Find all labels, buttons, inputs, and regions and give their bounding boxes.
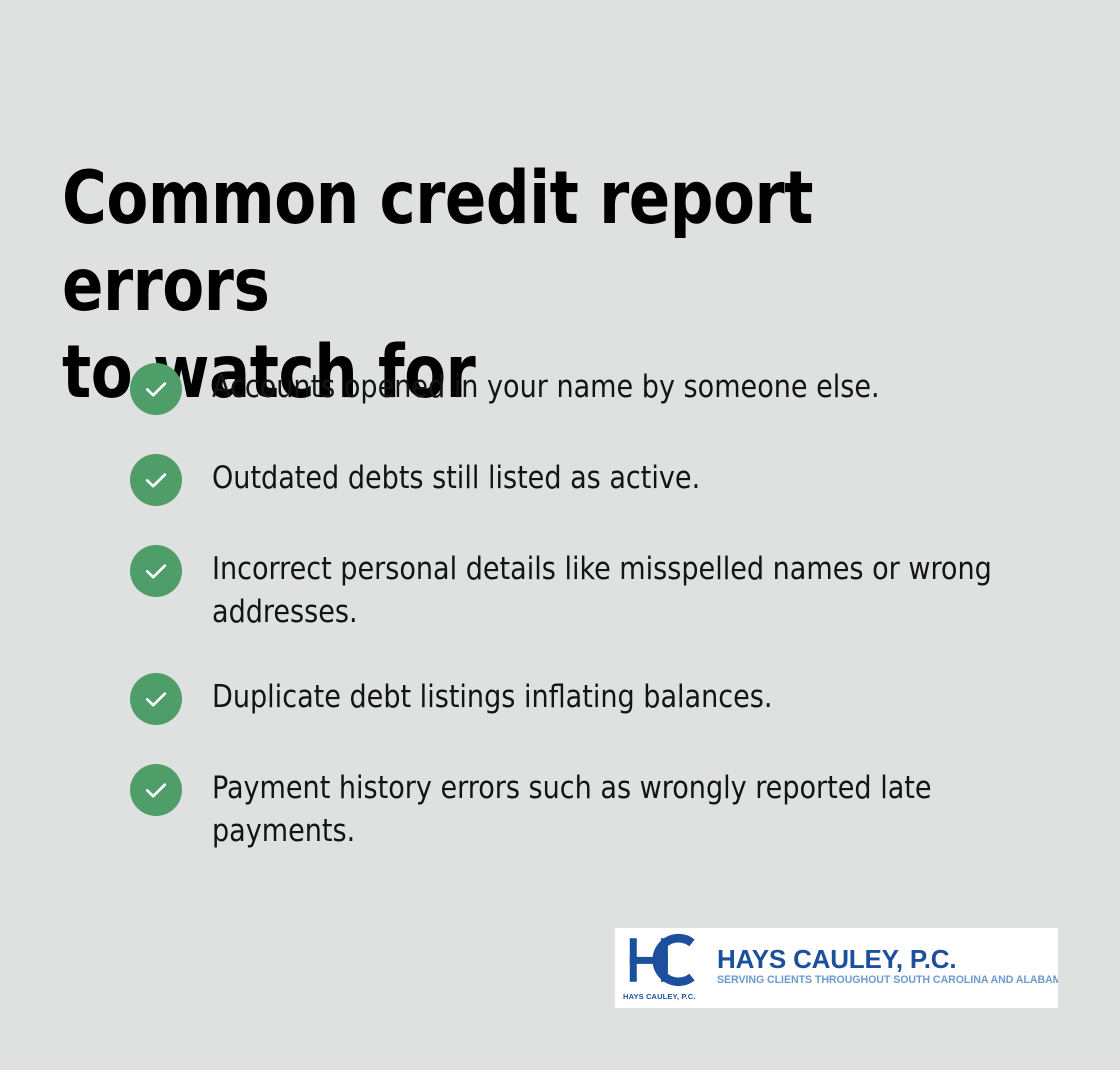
- list-item-label: Payment history errors such as wrongly r…: [212, 763, 1025, 853]
- monogram-caption: HAYS CAULEY, P.C.: [623, 992, 696, 1001]
- list-item-label: Accounts opened in your name by someone …: [212, 362, 1025, 409]
- list-item-label: Duplicate debt listings inflating balanc…: [212, 672, 1025, 719]
- check-circle-icon: [130, 454, 182, 506]
- list-item: Duplicate debt listings inflating balanc…: [130, 672, 1050, 725]
- list-item: Payment history errors such as wrongly r…: [130, 763, 1050, 853]
- check-circle-icon: [130, 673, 182, 725]
- list-item-label: Outdated debts still listed as active.: [212, 453, 1025, 500]
- check-circle-icon: [130, 363, 182, 415]
- checklist: Accounts opened in your name by someone …: [130, 362, 1050, 853]
- check-circle-icon: [130, 764, 182, 816]
- list-item: Accounts opened in your name by someone …: [130, 362, 1050, 415]
- logo-text-block: HAYS CAULEY, P.C. SERVING CLIENTS THROUG…: [715, 946, 1058, 991]
- hays-cauley-monogram-icon: HAYS CAULEY, P.C.: [623, 928, 715, 1008]
- list-item-label: Incorrect personal details like misspell…: [212, 544, 1025, 634]
- logo-card: HAYS CAULEY, P.C. HAYS CAULEY, P.C. SERV…: [615, 928, 1058, 1008]
- list-item: Outdated debts still listed as active.: [130, 453, 1050, 506]
- check-circle-icon: [130, 545, 182, 597]
- slide-canvas: Common credit report errors to watch for…: [0, 0, 1120, 1070]
- firm-tagline: SERVING CLIENTS THROUGHOUT SOUTH CAROLIN…: [717, 974, 1058, 987]
- firm-name: HAYS CAULEY, P.C.: [717, 946, 1058, 973]
- list-item: Incorrect personal details like misspell…: [130, 544, 1050, 634]
